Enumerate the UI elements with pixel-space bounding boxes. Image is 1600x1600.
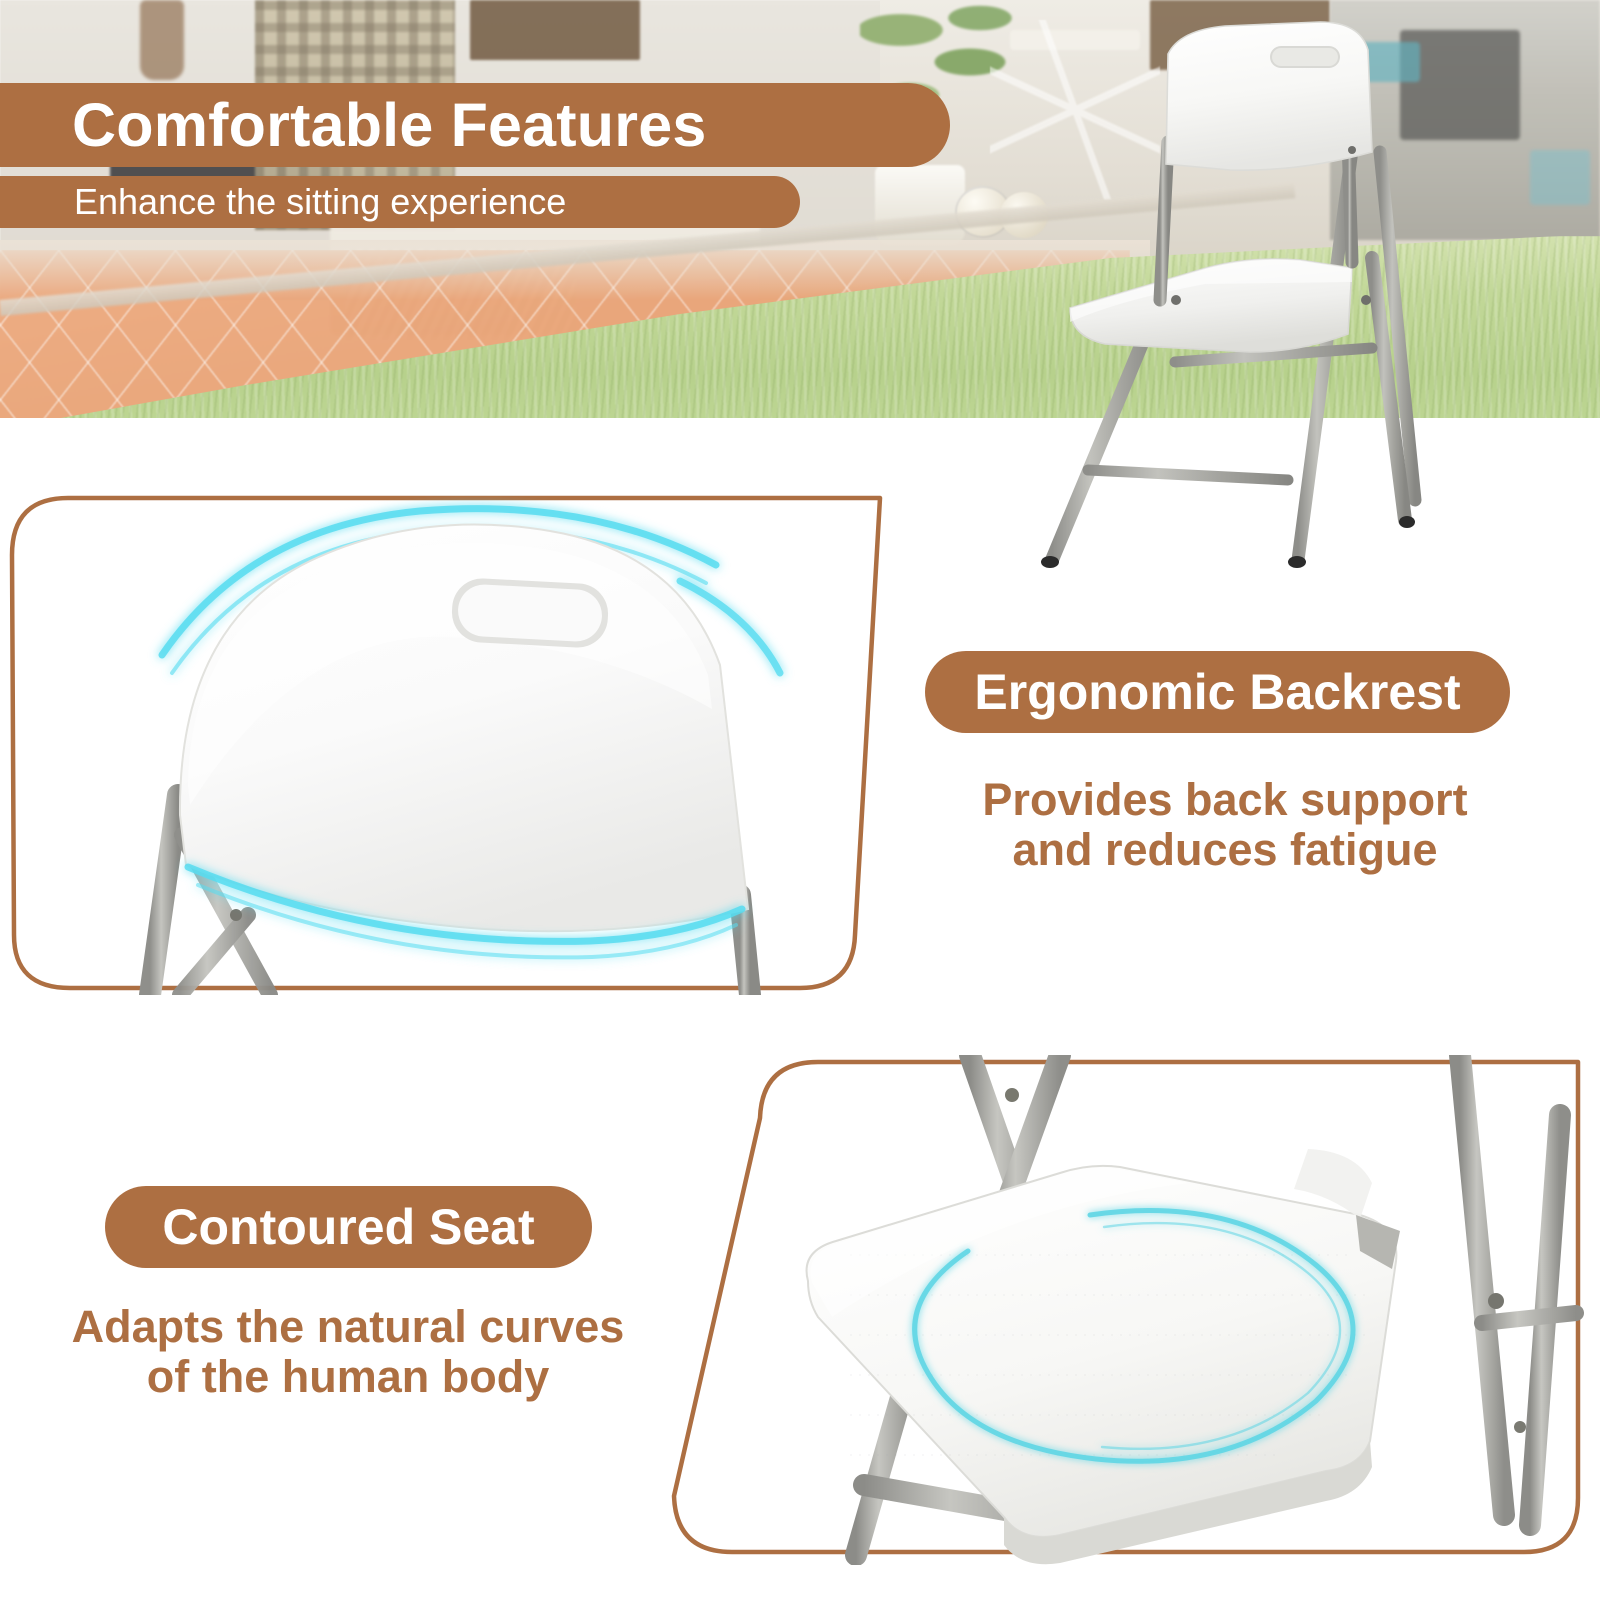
seat-right-uprights [1460,1055,1560,1525]
poster-canvas: Comfortable Features Enhance the sitting… [0,0,1600,1600]
hero-product-chair [1000,0,1600,620]
feature-label-ergonomic-backrest[interactable]: Ergonomic Backrest [925,651,1510,733]
feature-description-ergonomic-backrest: Provides back support and reduces fatigu… [905,775,1545,876]
feature-description-contoured-seat: Adapts the natural curves of the human b… [18,1302,678,1403]
hero-subtitle-band: Enhance the sitting experience [0,176,800,228]
hero-title-band: Comfortable Features [0,83,950,167]
feature-description-line-2: of the human body [18,1352,678,1402]
chair-foot-caps [1041,516,1415,568]
feature-label-contoured-seat[interactable]: Contoured Seat [105,1186,592,1268]
seat-closeup-photo [760,1055,1600,1565]
page-title: Comfortable Features [72,95,706,156]
chair-backrest-panel [1166,22,1372,170]
backrest-left-tube [150,795,178,995]
feature-description-line-1: Adapts the natural curves [18,1302,678,1352]
table-lamp [140,0,184,80]
feature-description-line-1: Provides back support [905,775,1545,825]
feature-label-text: Ergonomic Backrest [974,667,1460,717]
page-subtitle: Enhance the sitting experience [74,184,566,220]
feature-label-text: Contoured Seat [162,1202,534,1252]
seat-right-brace [1482,1313,1576,1323]
feature-description-line-2: and reduces fatigue [905,825,1545,875]
backrest-closeup-photo [120,495,840,995]
backrest-handle-slot [450,577,609,649]
wall-picture-frame [470,0,640,60]
